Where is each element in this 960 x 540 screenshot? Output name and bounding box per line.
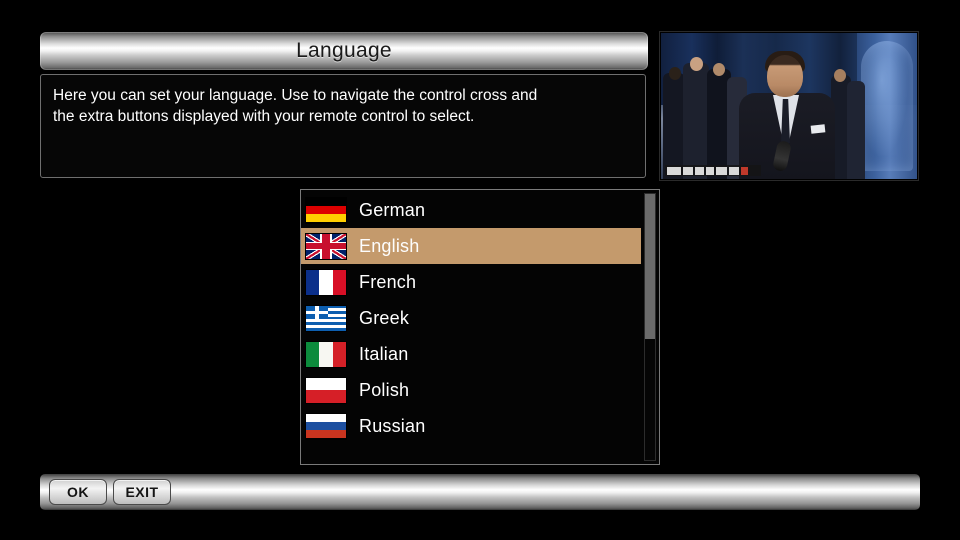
flag-france-icon <box>305 269 347 296</box>
list-item-label: Polish <box>359 380 409 401</box>
list-item-label: Russian <box>359 416 425 437</box>
flag-italy-icon <box>305 341 347 368</box>
video-crowd-head <box>690 57 703 71</box>
video-crowd-head <box>713 63 725 76</box>
reporter-pocket-square <box>811 124 826 133</box>
list-item-english[interactable]: English <box>301 228 641 264</box>
live-tv-preview[interactable] <box>661 33 917 179</box>
scrollbar-thumb[interactable] <box>645 194 655 339</box>
list-item-label: Italian <box>359 344 408 365</box>
news-channel-logo <box>665 165 761 176</box>
video-pillar-artwork <box>861 41 913 171</box>
video-crowd-head <box>834 69 846 82</box>
exit-button[interactable]: EXIT <box>113 479 171 505</box>
flag-united-kingdom-icon <box>305 233 347 260</box>
flag-greece-icon <box>305 305 347 332</box>
list-item-russian[interactable]: Russian <box>301 408 641 444</box>
list-item-label: English <box>359 236 419 257</box>
list-item-greek[interactable]: Greek <box>301 300 641 336</box>
list-item-label: Greek <box>359 308 409 329</box>
softkey-bar: OK EXIT <box>40 474 920 510</box>
language-list-scrollbar[interactable] <box>644 193 656 461</box>
ok-button[interactable]: OK <box>49 479 107 505</box>
video-crowd-person <box>847 81 865 179</box>
description-panel: Here you can set your language. Use to n… <box>40 74 646 178</box>
language-list[interactable]: German English French <box>301 192 641 444</box>
list-item-italian[interactable]: Italian <box>301 336 641 372</box>
flag-poland-icon <box>305 377 347 404</box>
list-item-label: French <box>359 272 416 293</box>
description-text: Here you can set your language. Use to n… <box>53 85 633 127</box>
flag-germany-icon <box>305 197 347 224</box>
list-item-polish[interactable]: Polish <box>301 372 641 408</box>
list-item-label: German <box>359 200 425 221</box>
video-crowd-person <box>683 63 709 179</box>
page-title: Language <box>296 39 392 63</box>
video-crowd-person <box>663 73 685 179</box>
list-item-french[interactable]: French <box>301 264 641 300</box>
ok-button-label: OK <box>67 484 89 500</box>
flag-russia-icon <box>305 413 347 440</box>
exit-button-label: EXIT <box>125 484 158 500</box>
reporter-face <box>767 55 803 97</box>
screen-title-bar: Language <box>40 32 648 70</box>
video-crowd-head <box>669 67 681 80</box>
language-list-panel[interactable]: German English French <box>300 189 660 465</box>
list-item-german[interactable]: German <box>301 192 641 228</box>
